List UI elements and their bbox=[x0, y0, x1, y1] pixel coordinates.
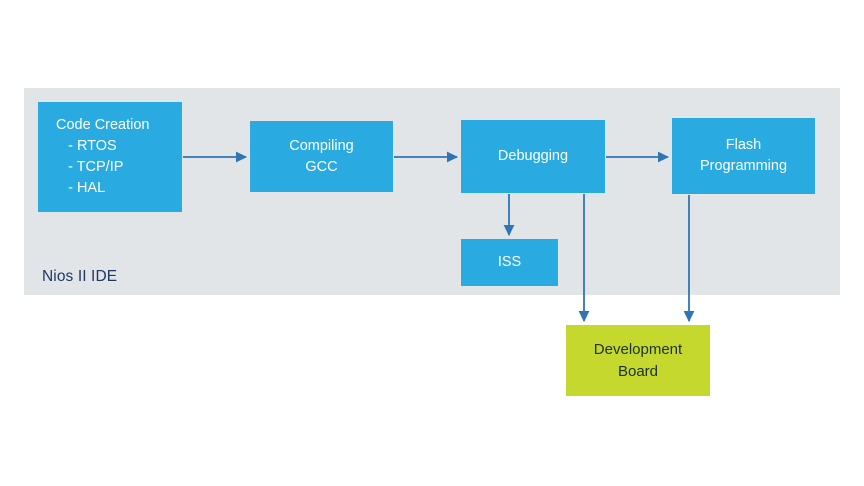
node-iss[interactable]: ISS bbox=[461, 239, 558, 286]
node-development-board-label: Development Board bbox=[594, 339, 682, 382]
nios-ii-ide-label: Nios II IDE bbox=[42, 268, 117, 286]
diagram-canvas: Nios II IDE Code Creation - RTOS - TCP/I… bbox=[0, 0, 864, 486]
node-compiling-gcc-label: Compiling GCC bbox=[289, 136, 353, 177]
node-code-creation-label: Code Creation - RTOS - TCP/IP - HAL bbox=[38, 115, 150, 199]
node-compiling-gcc-line2: GCC bbox=[289, 157, 353, 178]
node-flash-programming[interactable]: Flash Programming bbox=[672, 118, 815, 194]
node-development-board-line2: Board bbox=[594, 361, 682, 382]
node-debugging[interactable]: Debugging bbox=[461, 120, 605, 193]
node-compiling-gcc[interactable]: Compiling GCC bbox=[250, 121, 393, 192]
node-iss-label: ISS bbox=[498, 252, 521, 273]
node-iss-line1: ISS bbox=[498, 254, 521, 270]
node-flash-programming-line2: Programming bbox=[700, 156, 787, 177]
node-debugging-label: Debugging bbox=[498, 146, 568, 167]
node-flash-programming-label: Flash Programming bbox=[700, 135, 787, 176]
node-flash-programming-line1: Flash bbox=[726, 137, 761, 153]
node-compiling-gcc-line1: Compiling bbox=[289, 138, 353, 154]
node-development-board-line1: Development bbox=[594, 341, 682, 358]
node-debugging-line1: Debugging bbox=[498, 148, 568, 164]
node-development-board[interactable]: Development Board bbox=[566, 325, 710, 396]
node-code-creation[interactable]: Code Creation - RTOS - TCP/IP - HAL bbox=[38, 102, 182, 212]
